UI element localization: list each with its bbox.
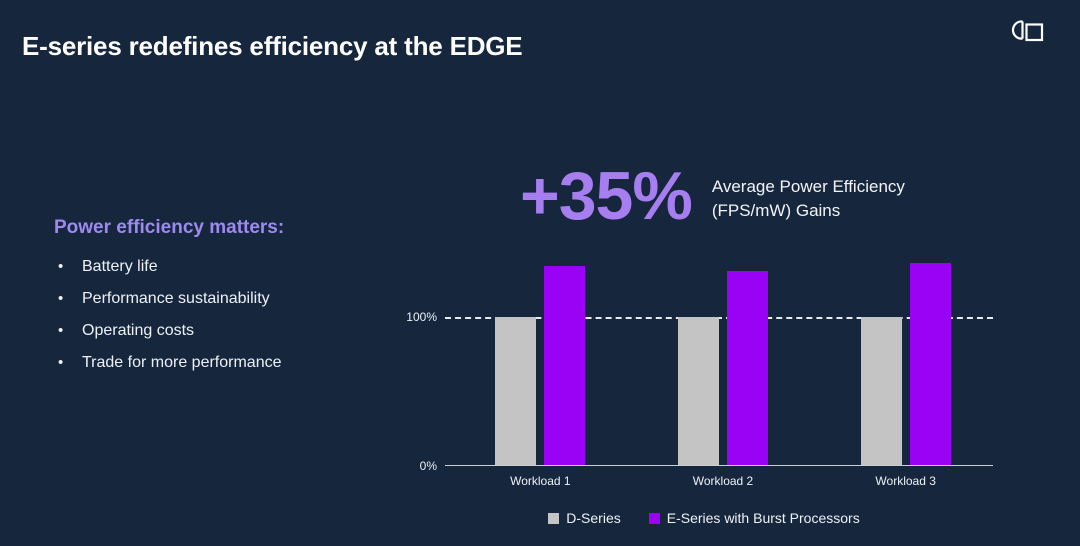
x-axis-label-2: Workload 2 <box>693 474 753 488</box>
stat-value: +35% <box>520 162 692 230</box>
x-axis-label-3: Workload 3 <box>875 474 935 488</box>
benefits-list: • Battery life • Performance sustainabil… <box>54 251 384 379</box>
left-panel-heading: Power efficiency matters: <box>54 217 384 239</box>
list-item: • Trade for more performance <box>54 347 384 379</box>
bar-e-series-2 <box>727 271 768 466</box>
page-title: E-series redefines efficiency at the EDG… <box>22 31 522 62</box>
list-item-label: Operating costs <box>82 322 194 339</box>
y-axis-tick-0: 0% <box>420 459 437 473</box>
x-axis-label-1: Workload 1 <box>510 474 570 488</box>
x-axis-line <box>445 465 993 466</box>
bullet-icon: • <box>58 315 63 347</box>
list-item-label: Trade for more performance <box>82 354 281 371</box>
bar-e-series-1 <box>544 266 585 466</box>
list-item: • Battery life <box>54 251 384 283</box>
legend-item-e-series: E-Series with Burst Processors <box>649 510 860 526</box>
bar-d-series-3 <box>861 317 902 466</box>
chart-plot-area: 100% 0% Workload 1Workload 2Workload 3 <box>445 250 993 466</box>
efficiency-bar-chart: 100% 0% Workload 1Workload 2Workload 3 <box>404 250 1004 540</box>
left-content-panel: Power efficiency matters: • Battery life… <box>54 217 384 379</box>
stat-caption-line-2: (FPS/mW) Gains <box>712 199 905 223</box>
list-item: • Operating costs <box>54 315 384 347</box>
legend-swatch-e-series <box>649 513 660 524</box>
bullet-icon: • <box>58 347 63 379</box>
list-item: • Performance sustainability <box>54 283 384 315</box>
chart-legend: D-Series E-Series with Burst Processors <box>404 510 1004 526</box>
legend-swatch-d-series <box>548 513 559 524</box>
legend-label-e-series: E-Series with Burst Processors <box>667 510 860 526</box>
stat-callout: +35% Average Power Efficiency (FPS/mW) G… <box>520 162 905 230</box>
bullet-icon: • <box>58 283 63 315</box>
legend-label-d-series: D-Series <box>566 510 620 526</box>
bar-e-series-3 <box>910 263 951 466</box>
list-item-label: Performance sustainability <box>82 290 270 307</box>
legend-item-d-series: D-Series <box>548 510 620 526</box>
stat-caption-line-1: Average Power Efficiency <box>712 175 905 199</box>
stat-caption: Average Power Efficiency (FPS/mW) Gains <box>712 169 905 223</box>
y-axis-tick-100: 100% <box>406 310 437 324</box>
bar-d-series-2 <box>678 317 719 466</box>
list-item-label: Battery life <box>82 258 158 275</box>
bullet-icon: • <box>58 251 63 283</box>
arm-logo-icon <box>1000 10 1054 46</box>
bar-d-series-1 <box>495 317 536 466</box>
